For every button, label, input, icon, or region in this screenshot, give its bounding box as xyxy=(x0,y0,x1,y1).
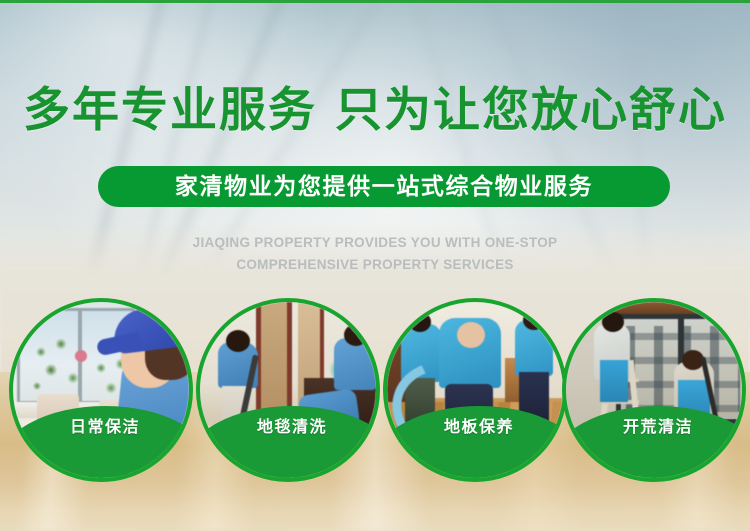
worker-head-shape xyxy=(523,310,545,330)
english-subcaption: JIAQING PROPERTY PROVIDES YOU WITH ONE-S… xyxy=(0,232,750,276)
worker-head-shape xyxy=(344,324,368,346)
headline-part-1: 多年专业服务 xyxy=(23,83,317,136)
wall-panel-shape xyxy=(256,302,292,420)
plant-icon xyxy=(27,338,93,400)
service-circle-row: 日常保洁 地毯清洗 xyxy=(0,298,750,488)
service-circle-daily-cleaning[interactable]: 日常保洁 xyxy=(9,298,193,482)
service-circle-floor-maintenance[interactable]: 地板保养 xyxy=(383,298,567,482)
headline-part-2: 只为让您放心舒心 xyxy=(335,83,727,136)
service-label: 日常保洁 xyxy=(70,420,140,436)
headline: 多年专业服务只为让您放心舒心 xyxy=(0,82,750,138)
worker-head-shape xyxy=(602,312,624,332)
english-subcaption-line-2: COMPREHENSIVE PROPERTY SERVICES xyxy=(0,254,750,276)
service-label: 地板保养 xyxy=(444,420,514,436)
slogan-pill: 家清物业为您提供一站式综合物业服务 xyxy=(98,166,670,207)
service-circle-carpet-washing[interactable]: 地毯清洗 xyxy=(196,298,380,482)
worker-head-shape xyxy=(226,330,250,352)
service-label: 地毯清洗 xyxy=(257,420,327,436)
worker-head-shape xyxy=(457,322,485,348)
slogan-pill-text: 家清物业为您提供一站式综合物业服务 xyxy=(175,175,593,198)
promo-banner: 多年专业服务只为让您放心舒心 家清物业为您提供一站式综合物业服务 JIAQING… xyxy=(0,0,750,531)
flower-icon xyxy=(75,350,87,362)
worker-head-shape xyxy=(409,312,431,332)
service-label: 开荒清洁 xyxy=(623,420,693,436)
worker-apron-shape xyxy=(600,360,628,402)
english-subcaption-line-1: JIAQING PROPERTY PROVIDES YOU WITH ONE-S… xyxy=(193,235,558,250)
top-green-rule xyxy=(0,0,750,3)
service-circle-post-construction-cleaning[interactable]: 开荒清洁 xyxy=(562,298,746,482)
